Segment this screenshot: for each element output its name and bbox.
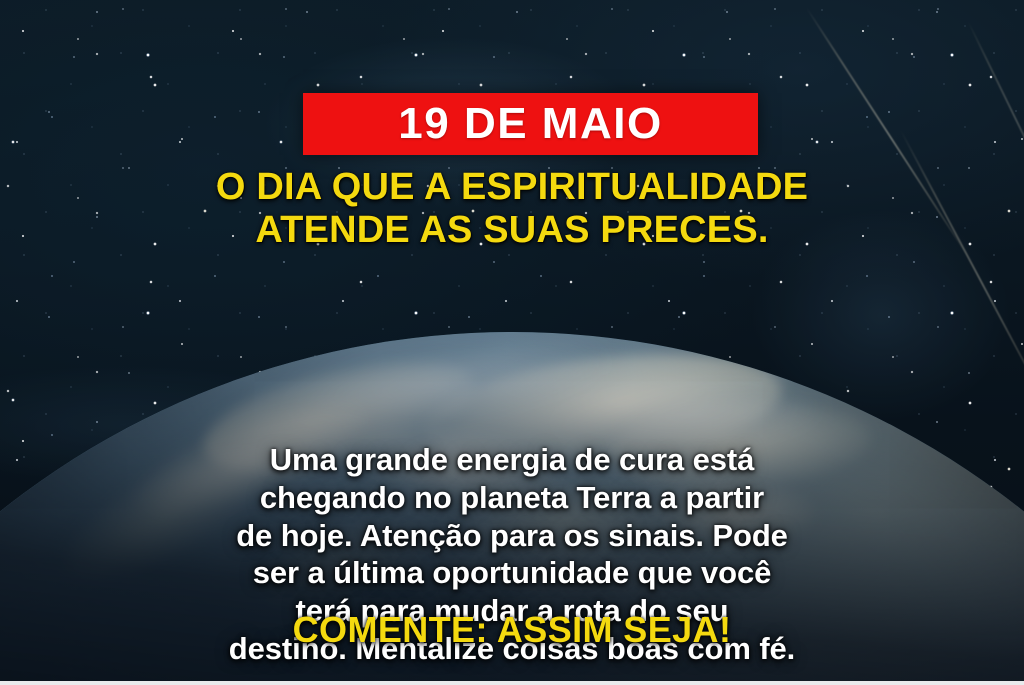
headline-line-1: O DIA QUE A ESPIRITUALIDADE: [0, 166, 1024, 209]
poster-content: 19 DE MAIO O DIA QUE A ESPIRITUALIDADE A…: [0, 0, 1024, 685]
body-line-2: chegando no planeta Terra a partir: [60, 479, 964, 517]
bottom-edge-strip: [0, 681, 1024, 685]
headline-line-2: ATENDE AS SUAS PRECES.: [0, 209, 1024, 252]
body-line-3: de hoje. Atenção para os sinais. Pode: [60, 517, 964, 555]
date-banner-text: 19 DE MAIO: [398, 102, 662, 146]
poster-canvas: 19 DE MAIO O DIA QUE A ESPIRITUALIDADE A…: [0, 0, 1024, 685]
headline: O DIA QUE A ESPIRITUALIDADE ATENDE AS SU…: [0, 166, 1024, 251]
body-line-1: Uma grande energia de cura está: [60, 441, 964, 479]
body-line-4: ser a última oportunidade que você: [60, 554, 964, 592]
date-banner: 19 DE MAIO: [303, 93, 758, 155]
call-to-action-text: COMENTE: ASSIM SEJA!: [0, 612, 1024, 648]
